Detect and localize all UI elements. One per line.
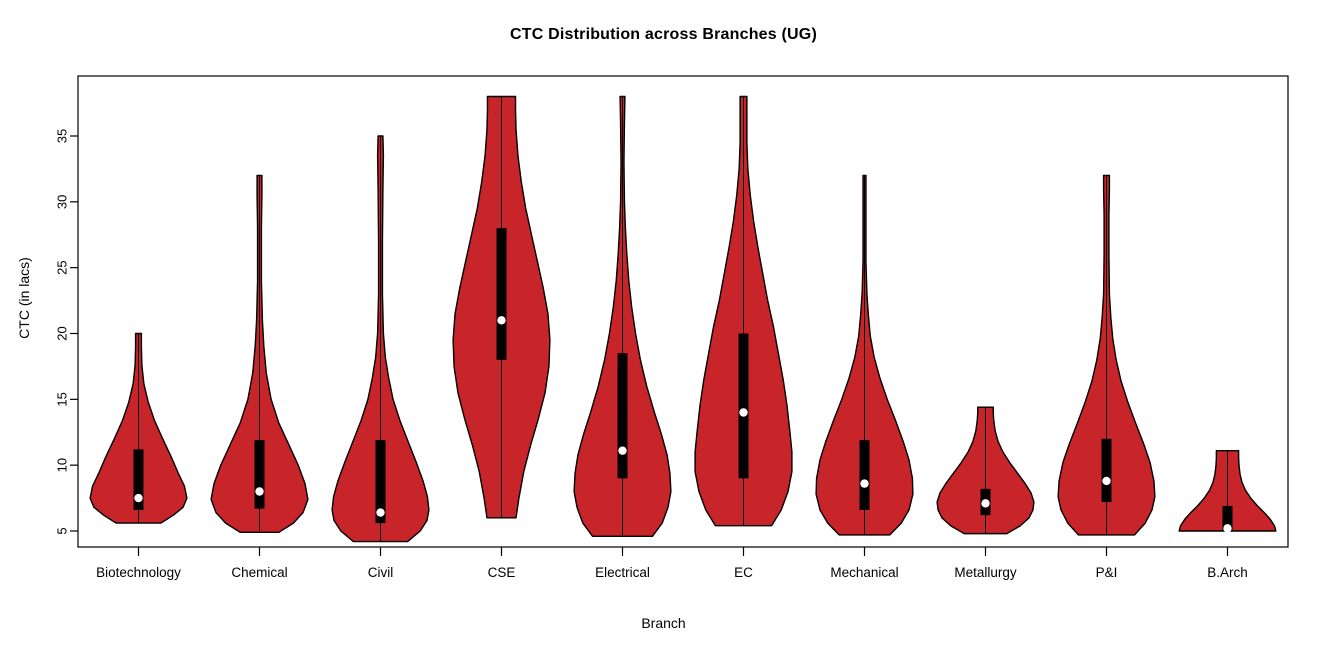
y-tick-label: 10 [55,458,70,472]
x-tick-label-p-i: P&I [1096,565,1118,580]
x-tick-label-electrical: Electrical [595,565,650,580]
x-tick-label-mechanical: Mechanical [830,565,898,580]
y-tick-label: 5 [55,527,70,534]
x-tick-label-chemical: Chemical [231,565,287,580]
median-marker [739,408,747,416]
y-tick-label: 15 [55,392,70,406]
y-tick-label: 30 [55,195,70,209]
violin-civil[interactable] [332,136,429,542]
x-tick-label-cse: CSE [488,565,516,580]
x-tick-labels-layer: BiotechnologyChemicalCivilCSEElectricalE… [96,547,1248,580]
x-tick-label-biotechnology: Biotechnology [96,565,181,580]
median-marker [618,446,626,454]
iqr-box [1102,439,1112,502]
violin-cse[interactable] [453,97,550,518]
violin-b-arch[interactable] [1179,451,1276,533]
violin-chart: CTC Distribution across Branches (UG) CT… [0,0,1327,653]
x-tick-label-metallurgy: Metallurgy [954,565,1017,580]
x-tick-label-civil: Civil [368,565,394,580]
y-tick-label: 35 [55,129,70,143]
violin-electrical[interactable] [574,97,671,537]
violin-plot-area: 5101520253035 BiotechnologyChemicalCivil… [0,0,1327,653]
median-marker [255,487,263,495]
x-tick-label-b-arch: B.Arch [1207,565,1248,580]
median-marker [497,316,505,324]
violin-p-i[interactable] [1058,176,1155,535]
violin-ec[interactable] [695,97,792,526]
median-marker [134,494,142,502]
violins-layer [90,97,1276,542]
violin-chemical[interactable] [211,176,308,533]
iqr-box [497,228,507,360]
violin-biotechnology[interactable] [90,334,187,524]
violin-mechanical[interactable] [816,176,913,535]
median-marker [1102,477,1110,485]
iqr-box [739,334,749,479]
median-marker [981,499,989,507]
iqr-box [255,440,265,508]
median-marker [376,508,384,516]
median-marker [860,479,868,487]
iqr-box [618,353,628,478]
iqr-box [860,440,870,510]
violin-metallurgy[interactable] [937,407,1034,533]
y-tick-label: 20 [55,326,70,340]
x-tick-label-ec: EC [734,565,753,580]
y-tick-label: 25 [55,260,70,274]
median-marker [1223,524,1231,532]
